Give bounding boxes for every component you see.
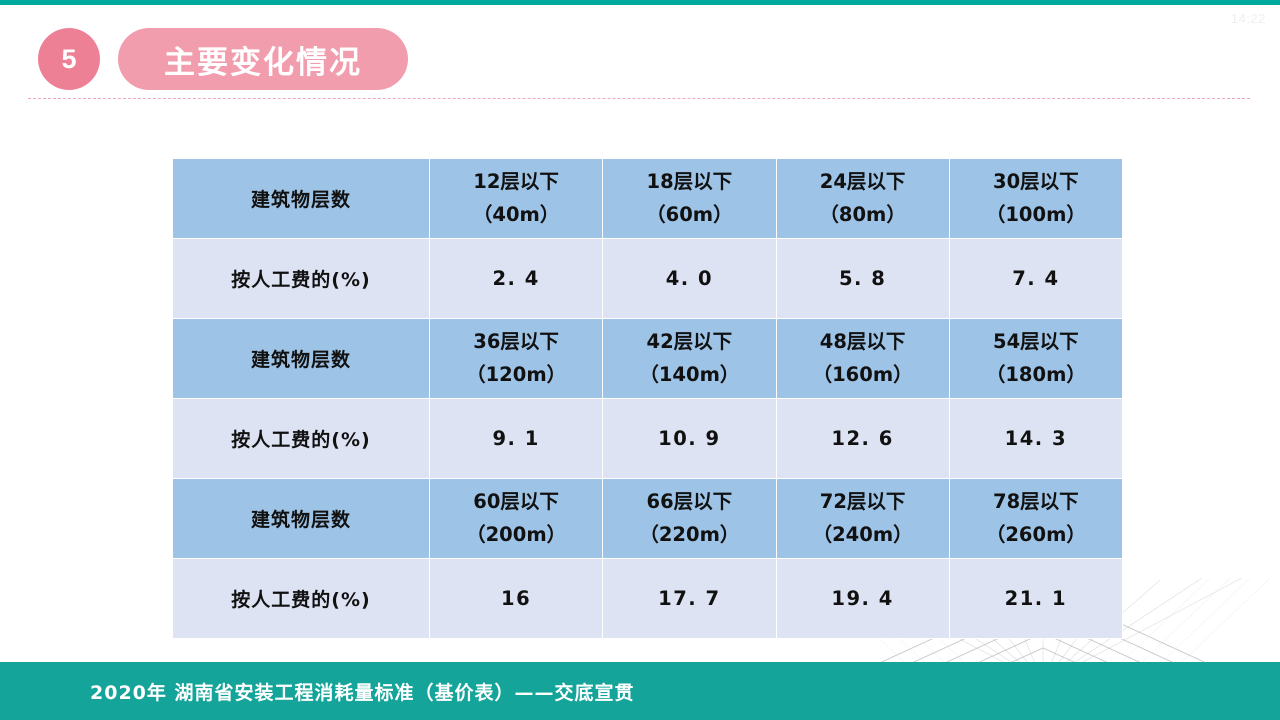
table-cell-floors: 78层以下 （260m） bbox=[949, 479, 1122, 559]
table-cell-value: 17. 7 bbox=[603, 559, 776, 639]
top-accent-strip bbox=[0, 0, 1280, 5]
table-row: 建筑物层数 60层以下 （200m） 66层以下 （220m） 72层以下 （2… bbox=[173, 479, 1123, 559]
slide-header: 5 主要变化情况 bbox=[0, 25, 1280, 95]
cell-floors-text: 48层以下 bbox=[779, 326, 947, 358]
table-row: 按人工费的(%) 2. 4 4. 0 5. 8 7. 4 bbox=[173, 239, 1123, 319]
table-cell-floors: 30层以下 （100m） bbox=[949, 159, 1122, 239]
page-title: 主要变化情况 bbox=[164, 37, 362, 82]
cell-floors-text: 12层以下 bbox=[432, 166, 600, 198]
table-cell-floors: 36层以下 （120m） bbox=[430, 319, 603, 399]
table-cell-floors: 60层以下 （200m） bbox=[430, 479, 603, 559]
table-cell-floors: 12层以下 （40m） bbox=[430, 159, 603, 239]
cell-floors-text: 72层以下 bbox=[779, 486, 947, 518]
cell-height-text: （40m） bbox=[432, 199, 600, 231]
changes-table-container: 建筑物层数 12层以下 （40m） 18层以下 （60m） 24层以下 （80m… bbox=[172, 158, 1122, 639]
cell-floors-text: 66层以下 bbox=[605, 486, 773, 518]
header-divider bbox=[28, 98, 1250, 99]
cell-height-text: （180m） bbox=[952, 359, 1120, 391]
section-title-pill: 主要变化情况 bbox=[118, 28, 408, 90]
cell-height-text: （200m） bbox=[432, 519, 600, 551]
table-row: 按人工费的(%) 9. 1 10. 9 12. 6 14. 3 bbox=[173, 399, 1123, 479]
table-cell-value: 2. 4 bbox=[430, 239, 603, 319]
table-cell-value: 16 bbox=[430, 559, 603, 639]
cell-floors-text: 60层以下 bbox=[432, 486, 600, 518]
table-cell-value: 7. 4 bbox=[949, 239, 1122, 319]
row-label-floors: 建筑物层数 bbox=[173, 159, 430, 239]
table-row: 建筑物层数 12层以下 （40m） 18层以下 （60m） 24层以下 （80m… bbox=[173, 159, 1123, 239]
table-cell-value: 12. 6 bbox=[776, 399, 949, 479]
cell-floors-text: 42层以下 bbox=[605, 326, 773, 358]
cell-height-text: （80m） bbox=[779, 199, 947, 231]
cell-floors-text: 36层以下 bbox=[432, 326, 600, 358]
row-label-percent: 按人工费的(%) bbox=[173, 559, 430, 639]
cell-floors-text: 30层以下 bbox=[952, 166, 1120, 198]
table-cell-floors: 24层以下 （80m） bbox=[776, 159, 949, 239]
table-body: 建筑物层数 12层以下 （40m） 18层以下 （60m） 24层以下 （80m… bbox=[173, 159, 1123, 639]
table-cell-value: 9. 1 bbox=[430, 399, 603, 479]
table-cell-value: 14. 3 bbox=[949, 399, 1122, 479]
timestamp-label: 14:22 bbox=[1231, 11, 1266, 26]
table-cell-floors: 48层以下 （160m） bbox=[776, 319, 949, 399]
table-cell-value: 10. 9 bbox=[603, 399, 776, 479]
cell-height-text: （220m） bbox=[605, 519, 773, 551]
cell-height-text: （60m） bbox=[605, 199, 773, 231]
table-cell-floors: 66层以下 （220m） bbox=[603, 479, 776, 559]
table-cell-floors: 72层以下 （240m） bbox=[776, 479, 949, 559]
cell-height-text: （100m） bbox=[952, 199, 1120, 231]
table-row: 建筑物层数 36层以下 （120m） 42层以下 （140m） 48层以下 （1… bbox=[173, 319, 1123, 399]
table-cell-floors: 18层以下 （60m） bbox=[603, 159, 776, 239]
cell-height-text: （120m） bbox=[432, 359, 600, 391]
table-cell-value: 21. 1 bbox=[949, 559, 1122, 639]
footer-bar: 2020年 湖南省安装工程消耗量标准（基价表）——交底宣贯 bbox=[0, 662, 1280, 720]
cell-height-text: （160m） bbox=[779, 359, 947, 391]
row-label-floors: 建筑物层数 bbox=[173, 319, 430, 399]
cell-height-text: （140m） bbox=[605, 359, 773, 391]
row-label-floors: 建筑物层数 bbox=[173, 479, 430, 559]
table-cell-value: 5. 8 bbox=[776, 239, 949, 319]
table-row: 按人工费的(%) 16 17. 7 19. 4 21. 1 bbox=[173, 559, 1123, 639]
table-cell-value: 19. 4 bbox=[776, 559, 949, 639]
section-number-badge: 5 bbox=[38, 28, 100, 90]
cell-floors-text: 18层以下 bbox=[605, 166, 773, 198]
cell-height-text: （260m） bbox=[952, 519, 1120, 551]
cell-height-text: （240m） bbox=[779, 519, 947, 551]
table-cell-value: 4. 0 bbox=[603, 239, 776, 319]
row-label-percent: 按人工费的(%) bbox=[173, 399, 430, 479]
row-label-percent: 按人工费的(%) bbox=[173, 239, 430, 319]
slide-root: 14:22 5 主要变化情况 bbox=[0, 0, 1280, 720]
footer-text: 2020年 湖南省安装工程消耗量标准（基价表）——交底宣贯 bbox=[90, 678, 635, 705]
cell-floors-text: 78层以下 bbox=[952, 486, 1120, 518]
table-cell-floors: 54层以下 （180m） bbox=[949, 319, 1122, 399]
cell-floors-text: 24层以下 bbox=[779, 166, 947, 198]
cell-floors-text: 54层以下 bbox=[952, 326, 1120, 358]
changes-table: 建筑物层数 12层以下 （40m） 18层以下 （60m） 24层以下 （80m… bbox=[172, 158, 1123, 639]
table-cell-floors: 42层以下 （140m） bbox=[603, 319, 776, 399]
